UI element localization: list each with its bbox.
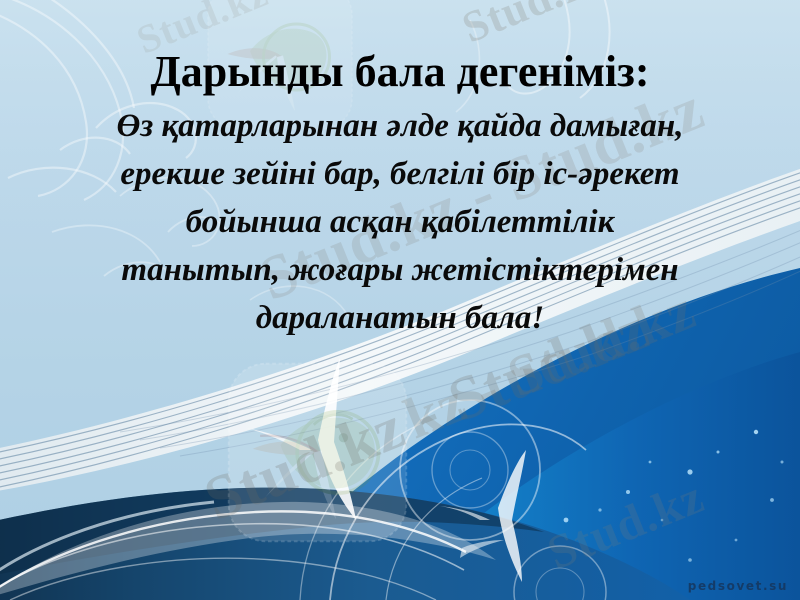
wave-navy-band	[0, 488, 690, 600]
slide-body-line-2: ерекше зейіні бар, белгілі бір іс-әрекет	[0, 150, 800, 198]
watermark-text: Stud.kz	[540, 469, 712, 581]
slide-body-line-3: бойынша асқан қабілеттілік	[0, 198, 800, 246]
slide-body-line-4: танытып, жоғары жетістіктерімен	[0, 246, 800, 294]
white-swoosh-group	[0, 502, 496, 600]
logo-watermark	[225, 360, 410, 545]
wave-navy-band-shadow	[0, 488, 544, 578]
white-ribbon-curves	[300, 400, 606, 600]
source-credit: pedsovet.su	[688, 579, 788, 593]
slide-text-block: Дарынды бала дегеніміз: Өз қатарларынан …	[0, 46, 800, 342]
wave-deep-blue	[384, 352, 800, 600]
slide-body-line-5: дараланатын бала!	[0, 294, 800, 342]
slide-canvas: Stud.kz Stud.kz Stud.kz - Stud.kz kz - S…	[0, 0, 800, 600]
slide-body-line-1: Өз қатарларынан әлде қайда дамыған,	[0, 102, 800, 150]
leaf-flourish	[246, 358, 526, 582]
slide-headline: Дарынды бала дегеніміз:	[0, 46, 800, 98]
sparkle-dots	[444, 430, 784, 578]
